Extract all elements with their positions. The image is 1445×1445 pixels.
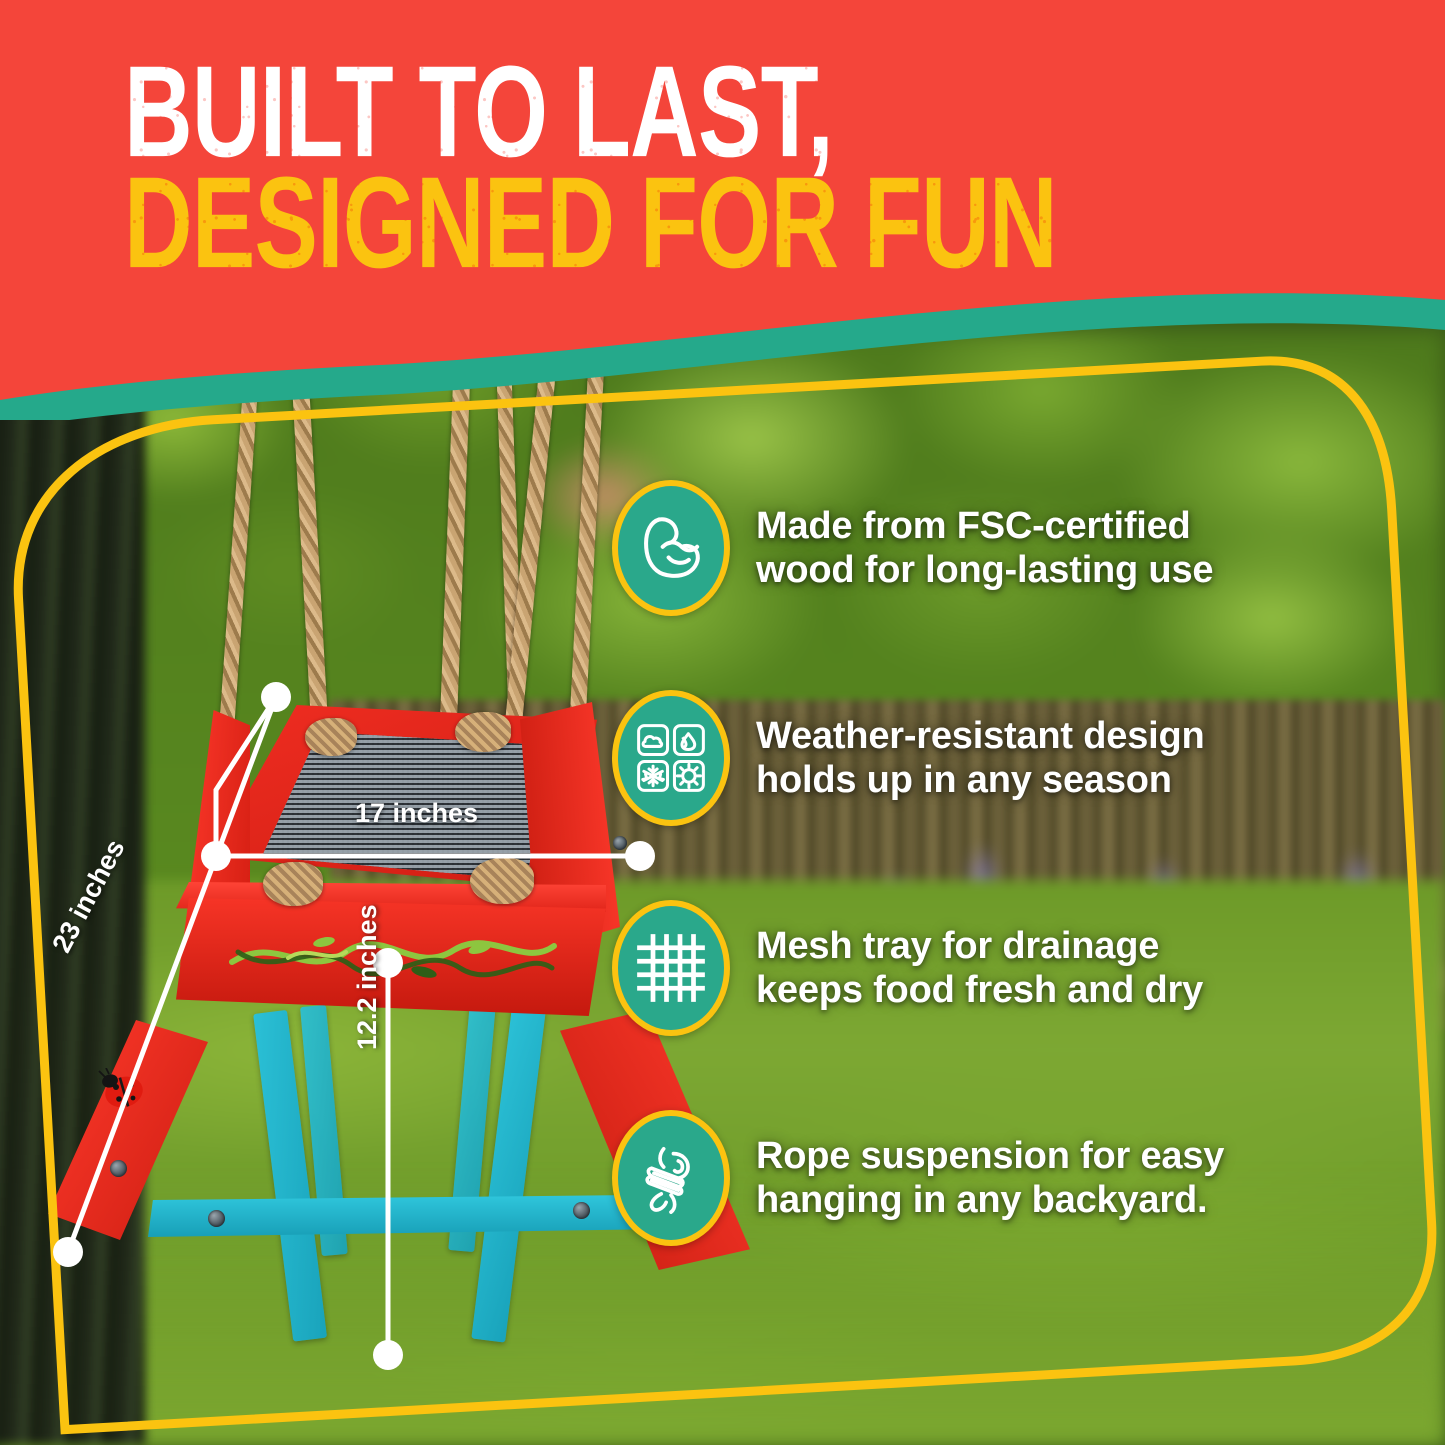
headline-line-2: DESIGNED FOR FUN — [124, 163, 1092, 283]
feature-text-line-2: keeps food fresh and dry — [756, 968, 1203, 1012]
ladybug-decal — [97, 1068, 149, 1110]
bird-feeder-product — [0, 640, 700, 1400]
rope-knot — [470, 858, 534, 904]
screw — [573, 1202, 590, 1219]
headline-banner: BUILT TO LAST, DESIGNED FOR FUN — [0, 0, 1445, 400]
rope-knot — [305, 718, 357, 756]
flexed-bicep-icon — [612, 480, 730, 616]
feature-text-line-1: Made from FSC-certified — [756, 504, 1213, 548]
feature-text: Rope suspension for easy hanging in any … — [756, 1134, 1224, 1222]
feature-text: Weather-resistant design holds up in any… — [756, 714, 1205, 802]
feature-item-durability[interactable]: Made from FSC-certified wood for long-la… — [612, 480, 1372, 616]
rope-knot-icon — [612, 1110, 730, 1246]
feature-text-line-2: holds up in any season — [756, 758, 1205, 802]
cloud-glyph — [643, 736, 662, 746]
feature-text: Mesh tray for drainage keeps food fresh … — [756, 924, 1203, 1012]
feature-item-rope-suspension[interactable]: Rope suspension for easy hanging in any … — [612, 1110, 1372, 1246]
feature-text-line-1: Mesh tray for drainage — [756, 924, 1203, 968]
snowflake-glyph — [643, 766, 664, 786]
feature-text-line-2: wood for long-lasting use — [756, 548, 1213, 592]
screw — [110, 1160, 127, 1177]
feature-item-mesh-drainage[interactable]: Mesh tray for drainage keeps food fresh … — [612, 900, 1372, 1036]
screw — [208, 1210, 225, 1227]
sun-glyph — [677, 764, 700, 787]
feature-text-line-1: Rope suspension for easy — [756, 1134, 1224, 1178]
feature-item-weather-resistant[interactable]: Weather-resistant design holds up in any… — [612, 690, 1372, 826]
mesh-grid-icon — [612, 900, 730, 1036]
feature-text-line-2: hanging in any backyard. — [756, 1178, 1224, 1222]
rope-knot — [263, 862, 323, 906]
feature-text: Made from FSC-certified wood for long-la… — [756, 504, 1213, 592]
rope-knot — [455, 712, 511, 752]
weather-grid-icon — [612, 690, 730, 826]
headline-block: BUILT TO LAST, DESIGNED FOR FUN — [124, 52, 1304, 269]
feature-text-line-1: Weather-resistant design — [756, 714, 1205, 758]
vine-decal — [228, 928, 558, 984]
feature-list: Made from FSC-certified wood for long-la… — [612, 480, 1372, 1320]
infographic-canvas: BUILT TO LAST, DESIGNED FOR FUN Made fro… — [0, 0, 1445, 1445]
